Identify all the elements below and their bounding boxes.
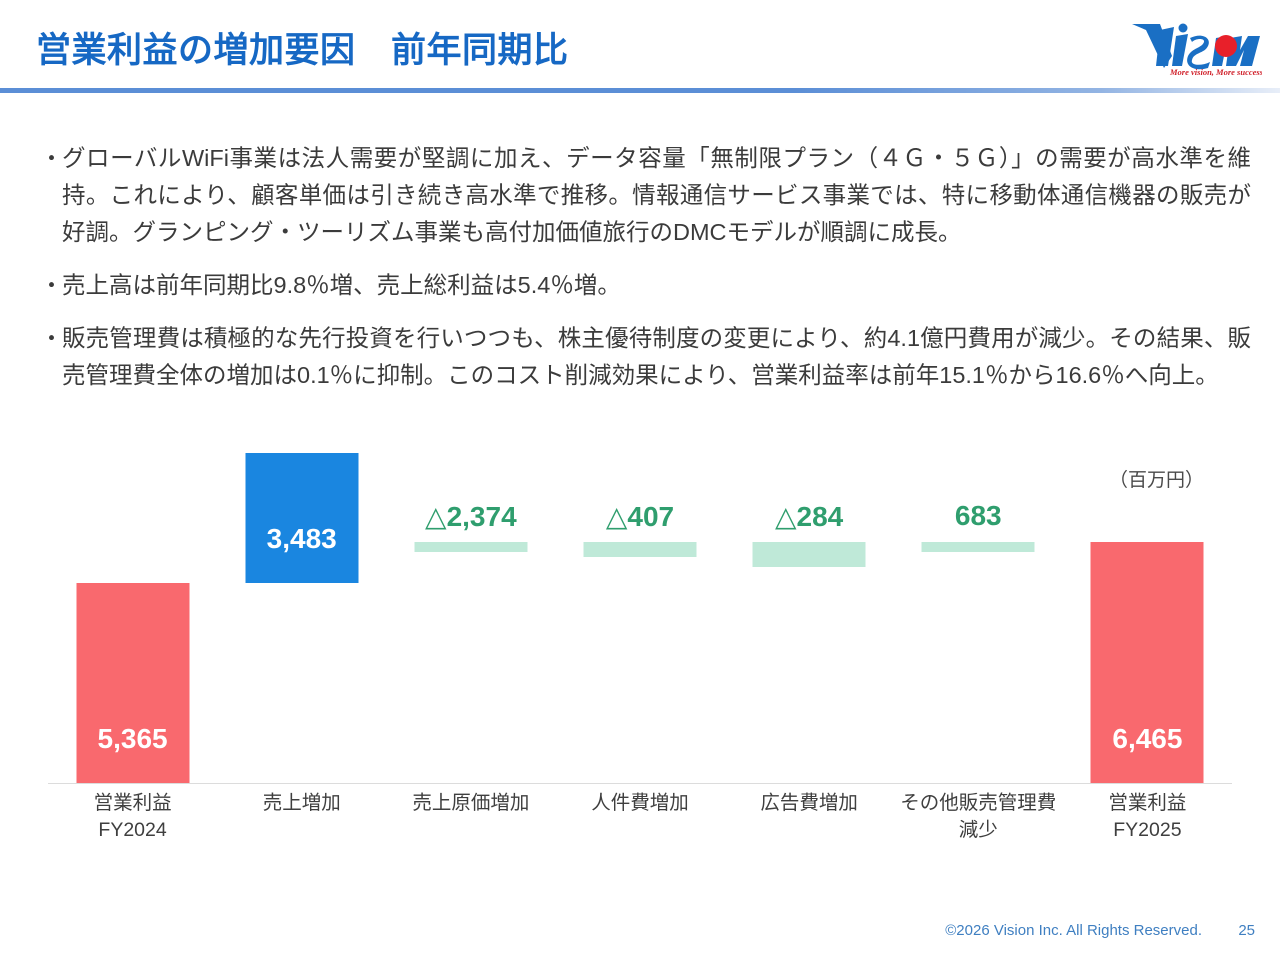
- bullet-text: 売上高は前年同期比9.8％増、売上総利益は5.4％増。: [62, 267, 1251, 304]
- chart-baseline-axis: [48, 783, 1232, 784]
- chart-x-label: 広告費増加: [725, 790, 894, 817]
- logo-tagline: More vision, More success.: [1169, 67, 1262, 77]
- chart-bar: [753, 542, 866, 568]
- logo-red-dot: [1215, 35, 1237, 57]
- chart-bar-value-label: △407: [606, 500, 674, 533]
- chart-bar-value-label: 3,483: [267, 523, 337, 555]
- bullet-marker: ・: [36, 267, 62, 304]
- chart-bar-group: 3,483: [217, 455, 386, 783]
- chart-x-label: 営業利益 FY2025: [1063, 790, 1232, 844]
- copyright-text: ©2026 Vision Inc. All Rights Reserved.: [945, 922, 1202, 939]
- bullet-text: 販売管理費は積極的な先行投資を行いつつも、株主優待制度の変更により、約4.1億円…: [62, 320, 1251, 394]
- chart-x-label: 営業利益 FY2024: [48, 790, 217, 844]
- vision-logo: More vision, More success.: [1130, 16, 1262, 78]
- chart-bar: [922, 542, 1035, 552]
- chart-x-label: その他販売管理費 減少: [894, 790, 1063, 844]
- chart-x-label: 人件費増加: [555, 790, 724, 817]
- chart-bar-group: 6,465: [1063, 455, 1232, 783]
- chart-plot-area: 5,3653,483△2,374△407△2846836,465: [48, 455, 1232, 783]
- chart-bar-group: △284: [725, 455, 894, 783]
- chart-bar-group: 683: [894, 455, 1063, 783]
- bullet-item: ・ グローバルWiFi事業は法人需要が堅調に加え、データ容量「無制限プラン（４Ｇ…: [36, 140, 1251, 251]
- chart-bar-group: 5,365: [48, 455, 217, 783]
- bullet-text: グローバルWiFi事業は法人需要が堅調に加え、データ容量「無制限プラン（４Ｇ・５…: [62, 140, 1251, 251]
- header-divider: [0, 88, 1280, 93]
- chart-bar-group: △407: [555, 455, 724, 783]
- chart-x-label: 売上原価増加: [386, 790, 555, 817]
- chart-bar-value-label: △2,374: [425, 500, 517, 533]
- page-number: 25: [1238, 922, 1255, 939]
- chart-bar: [583, 542, 696, 557]
- slide-header: 営業利益の増加要因 前年同期比 More vision, More succes…: [0, 0, 1280, 92]
- chart-x-axis-labels: 営業利益 FY2024売上増加売上原価増加人件費増加広告費増加その他販売管理費 …: [48, 790, 1232, 860]
- page-title: 営業利益の増加要因 前年同期比: [36, 22, 569, 73]
- slide-footer: ©2026 Vision Inc. All Rights Reserved. 2…: [0, 922, 1280, 946]
- chart-bar: [414, 542, 527, 552]
- bullet-item: ・ 販売管理費は積極的な先行投資を行いつつも、株主優待制度の変更により、約4.1…: [36, 320, 1251, 394]
- chart-bar-group: △2,374: [386, 455, 555, 783]
- chart-bar: [245, 453, 358, 583]
- waterfall-chart: （百万円） 5,3653,483△2,374△407△2846836,465 営…: [0, 455, 1280, 875]
- chart-x-label: 売上増加: [217, 790, 386, 817]
- logo-wordmark-shape: [1132, 24, 1260, 70]
- bullet-item: ・ 売上高は前年同期比9.8％増、売上総利益は5.4％増。: [36, 267, 1251, 304]
- chart-bar-value-label: 6,465: [1112, 723, 1182, 755]
- chart-bar-value-label: △284: [775, 500, 843, 533]
- chart-bar-value-label: 5,365: [98, 723, 168, 755]
- bullet-marker: ・: [36, 140, 62, 177]
- bullet-marker: ・: [36, 320, 62, 357]
- chart-bar-value-label: 683: [955, 500, 1002, 532]
- body-bullets: ・ グローバルWiFi事業は法人需要が堅調に加え、データ容量「無制限プラン（４Ｇ…: [36, 140, 1251, 410]
